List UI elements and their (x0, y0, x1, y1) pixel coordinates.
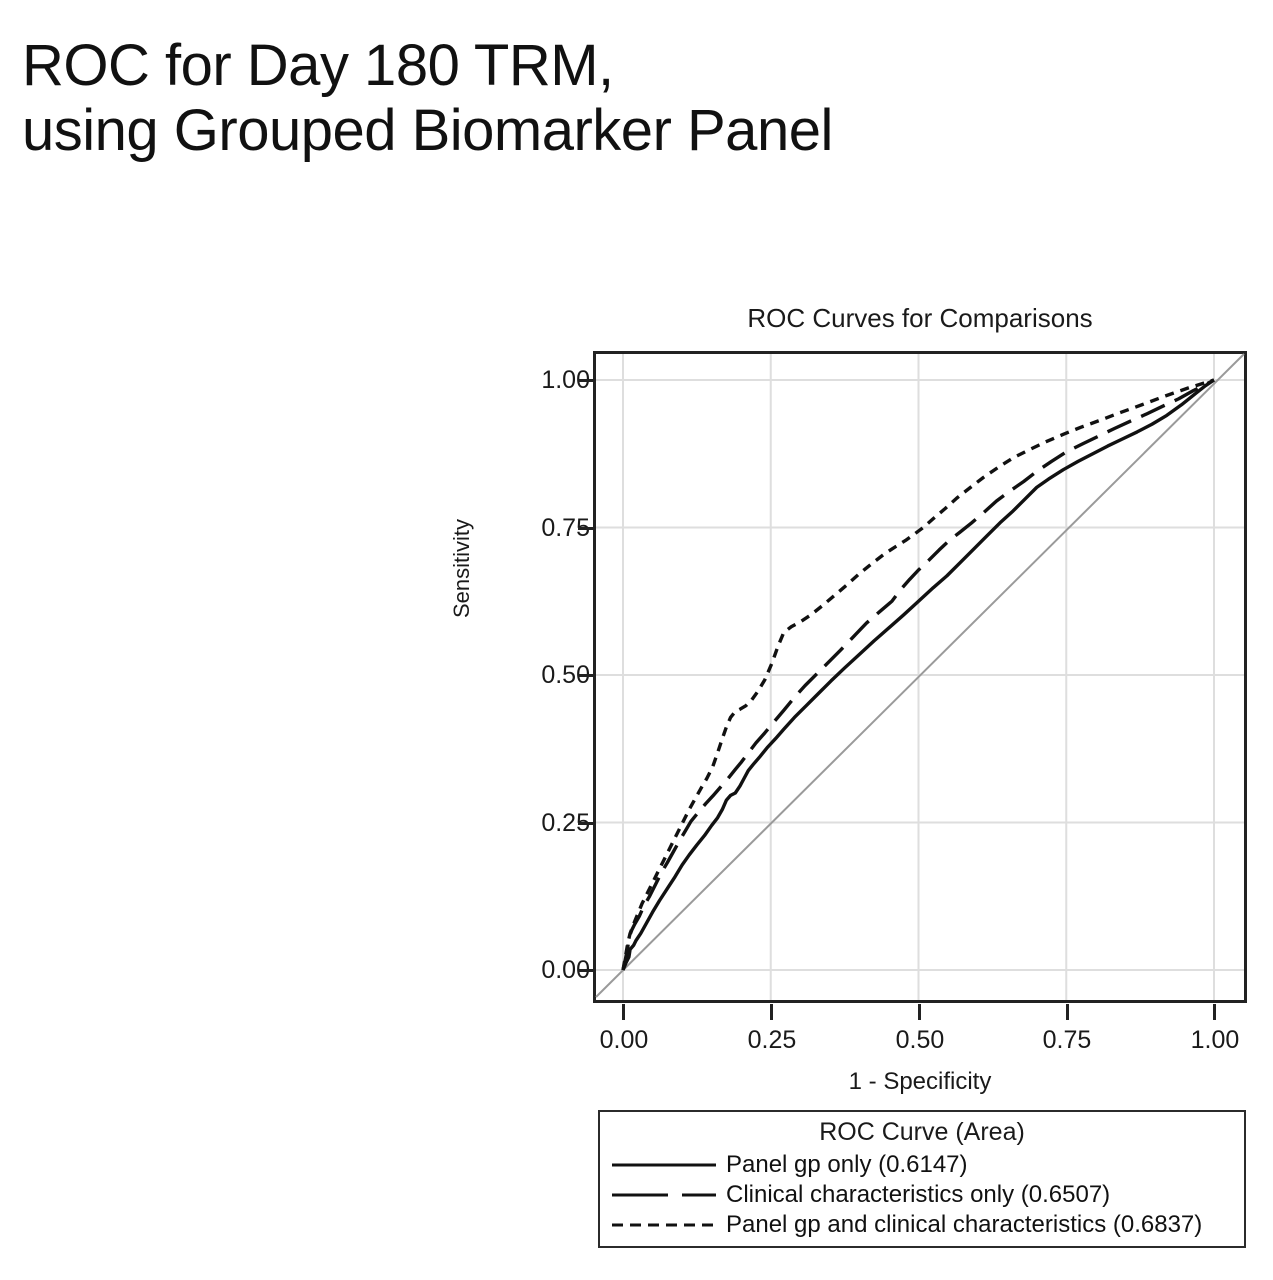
y-tick-label-0.00: 0.00 (500, 956, 590, 985)
legend-label-clinical-characteristics-only: Clinical characteristics only (0.6507) (726, 1181, 1110, 1209)
y-tick-mark-1.00 (578, 379, 594, 382)
x-tick-mark-0.25 (770, 1004, 773, 1020)
x-tick-label-1.00: 1.00 (1170, 1026, 1260, 1055)
roc-plot-svg (593, 351, 1247, 1003)
x-tick-mark-0.75 (1066, 1004, 1069, 1020)
x-tick-label-0.00: 0.00 (579, 1026, 669, 1055)
x-tick-mark-0.50 (918, 1004, 921, 1020)
y-tick-label-0.25: 0.25 (500, 809, 590, 838)
x-tick-label-0.75: 0.75 (1022, 1026, 1112, 1055)
x-tick-label-0.25: 0.25 (727, 1026, 817, 1055)
x-tick-mark-1.00 (1213, 1004, 1216, 1020)
plot-area (593, 351, 1247, 1003)
legend-line-solid-icon (610, 1156, 718, 1174)
y-tick-label-1.00: 1.00 (500, 366, 590, 395)
x-tick-label-0.50: 0.50 (875, 1026, 965, 1055)
roc-figure: ROC Curves for Comparisons Sensitivity 1… (0, 0, 1273, 1280)
legend-item-clinical-characteristics-only[interactable]: Clinical characteristics only (0.6507) (600, 1180, 1244, 1210)
legend-item-panel-gp-only[interactable]: Panel gp only (0.6147) (600, 1150, 1244, 1180)
y-tick-mark-0.75 (578, 527, 594, 530)
legend-line-short-dash-icon (610, 1216, 718, 1234)
legend-line-long-dash-icon (610, 1186, 718, 1204)
x-axis-title: 1 - Specificity (593, 1068, 1247, 1096)
y-tick-label-0.75: 0.75 (500, 514, 590, 543)
y-tick-mark-0.50 (578, 674, 594, 677)
y-tick-label-0.50: 0.50 (500, 661, 590, 690)
chart-title: ROC Curves for Comparisons (593, 303, 1247, 334)
x-tick-mark-0.00 (622, 1004, 625, 1020)
legend: ROC Curve (Area) Panel gp only (0.6147) … (598, 1110, 1246, 1248)
legend-label-panel-gp-and-clinical: Panel gp and clinical characteristics (0… (726, 1211, 1202, 1239)
y-tick-mark-0.00 (578, 969, 594, 972)
y-tick-mark-0.25 (578, 822, 594, 825)
legend-title: ROC Curve (Area) (600, 1116, 1244, 1150)
legend-label-panel-gp-only: Panel gp only (0.6147) (726, 1151, 968, 1179)
y-axis-title: Sensitivity (449, 519, 475, 618)
legend-item-panel-gp-and-clinical[interactable]: Panel gp and clinical characteristics (0… (600, 1210, 1244, 1240)
